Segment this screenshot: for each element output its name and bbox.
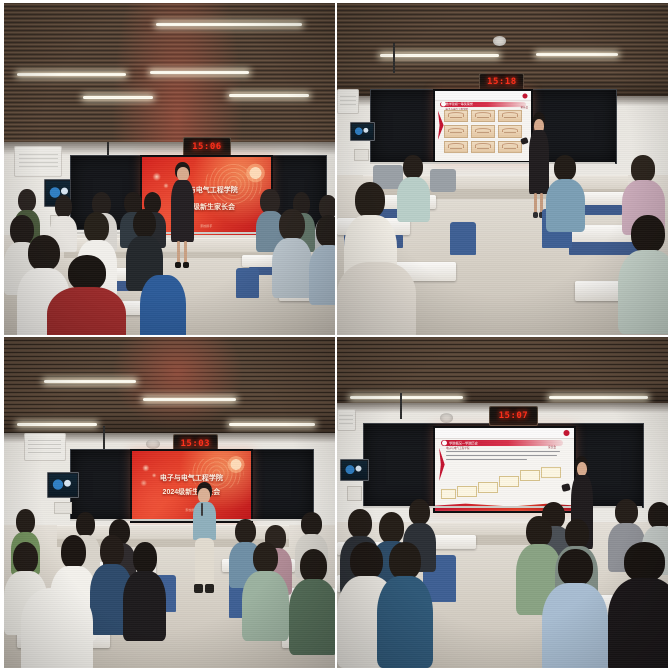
audience-head <box>648 502 668 528</box>
air-conditioner <box>14 146 62 178</box>
audience-body <box>140 275 186 335</box>
audience-member <box>242 542 288 641</box>
audience-body <box>47 287 126 335</box>
collage-panel-top-left: 15:06 电子与电气工程学院 2024级新生家长会 家校携手 <box>4 3 335 335</box>
audience-member <box>47 255 126 335</box>
ceiling-light-tube <box>17 73 126 76</box>
slide-header-bar <box>435 428 574 439</box>
audience-member <box>397 155 430 221</box>
audience-head <box>526 516 552 548</box>
presenter-shoe <box>205 584 214 593</box>
air-conditioner <box>24 433 66 462</box>
audience-member <box>618 215 668 334</box>
certificate-thumbnail <box>498 141 522 153</box>
audience-head <box>631 215 664 253</box>
ceiling-speaker <box>493 36 506 46</box>
slide-header-bar <box>435 91 531 101</box>
institution-logo-icon <box>439 448 445 481</box>
audience-head <box>253 542 279 574</box>
presenter-shoe <box>175 262 181 268</box>
slide-banner: 学院概况—学院历史 <box>441 440 563 447</box>
audience-body <box>123 571 166 642</box>
audience-body <box>21 588 94 668</box>
projector-mount <box>400 393 402 420</box>
certificate-grid <box>444 110 523 153</box>
audience-head <box>348 509 372 538</box>
presenter-head <box>577 462 588 476</box>
slide-banner-text: 数学建模一等奖荣誉 <box>446 102 473 106</box>
led-wall-clock: 15:07 <box>489 406 537 426</box>
air-conditioner <box>337 89 359 114</box>
audience-head <box>615 499 638 525</box>
monitor-screen-image <box>49 474 77 495</box>
certificate-thumbnail <box>471 110 495 122</box>
audience-head <box>235 519 256 544</box>
audience-body <box>618 250 668 335</box>
audience-member <box>123 542 166 641</box>
banner-bullet-icon <box>442 440 447 445</box>
wall-control-monitor[interactable] <box>350 122 375 141</box>
presenter-shoe <box>533 212 539 218</box>
presentation-screen[interactable]: 电子与电气工程学院 家长会 学院概况—学院历史 <box>433 426 576 513</box>
audience-body <box>272 238 312 298</box>
ceiling-light-tube <box>150 71 249 74</box>
audience-head <box>13 542 39 574</box>
university-emblem <box>245 162 266 184</box>
clock-time: 15:18 <box>487 77 517 87</box>
timeline-node <box>541 467 561 478</box>
classroom-chair <box>450 222 476 255</box>
audience-head <box>279 209 304 241</box>
photo-collage: 15:06 电子与电气工程学院 2024级新生家长会 家校携手 <box>0 0 672 672</box>
wall-control-monitor[interactable] <box>340 459 368 481</box>
timeline-node <box>441 489 457 498</box>
projector-mount <box>393 43 395 73</box>
audience-head <box>61 535 87 569</box>
certificate-thumbnail <box>444 125 468 137</box>
audience-head <box>16 509 35 534</box>
wall-switch-plate[interactable] <box>347 486 362 501</box>
audience-member <box>608 542 668 668</box>
audience-member <box>546 155 586 231</box>
audience-head <box>68 255 106 291</box>
university-emblem <box>521 93 529 99</box>
timeline-node <box>499 476 519 487</box>
audience-head <box>76 512 95 537</box>
ceiling-light-tube <box>143 398 236 401</box>
audience-head <box>379 512 405 544</box>
ceiling-light-tube <box>17 423 96 426</box>
audience-body <box>397 177 430 221</box>
audience-member <box>140 275 186 335</box>
classroom-chair <box>430 169 456 192</box>
monitor-screen-image <box>342 461 366 479</box>
audience-head <box>554 155 576 181</box>
certificate-thumbnail <box>471 141 495 153</box>
audience-head <box>55 195 72 218</box>
ceiling-light-tube <box>350 396 463 399</box>
audience-member <box>272 209 312 299</box>
slide-banner: 数学建模一等奖荣誉 <box>440 102 526 108</box>
audience-head <box>558 549 592 587</box>
presenter-body <box>193 502 216 540</box>
presenter-shoe <box>194 584 203 593</box>
audience-member <box>337 262 416 335</box>
audience-body <box>289 579 335 654</box>
ceiling-light-tube <box>536 53 619 56</box>
presenter-leg <box>534 193 537 214</box>
slide-banner-text: 学院概况—学院历史 <box>449 440 478 445</box>
audience-head <box>355 182 385 218</box>
presenter-head <box>198 488 210 503</box>
collage-panel-top-right: 15:18 电子与电气工程学院 家长会 数学建模一等奖荣誉 <box>337 3 668 335</box>
ceiling-speaker <box>440 413 453 423</box>
audience-member <box>377 542 433 668</box>
audience-member <box>542 549 608 668</box>
certificate-thumbnail <box>444 141 468 153</box>
audience-head <box>84 212 109 243</box>
collage-panel-bottom-right: 15:07 电子与电气工程学院 家长会 学院概况—学院历史 <box>337 337 668 669</box>
ceiling-light-tube <box>229 94 308 97</box>
audience-head <box>133 542 157 574</box>
audience-head <box>624 542 665 582</box>
audience-body <box>242 571 288 642</box>
certificate-thumbnail <box>471 125 495 137</box>
clock-time: 15:07 <box>499 411 529 421</box>
projector-mount <box>103 426 105 449</box>
ceiling-light-tube <box>229 423 315 426</box>
audience-head <box>631 155 655 182</box>
audience-member <box>289 549 335 655</box>
presentation-screen[interactable]: 电子与电气工程学院 家长会 数学建模一等奖荣誉 <box>433 89 533 163</box>
wall-switch-plate[interactable] <box>354 149 369 161</box>
monitor-screen-image <box>352 124 373 139</box>
audience-head <box>301 512 322 536</box>
ceiling-light-tube <box>549 396 648 399</box>
audience-head <box>300 549 328 583</box>
audience-head <box>18 189 35 213</box>
air-conditioner <box>337 409 356 431</box>
presenter-shoe <box>183 262 189 268</box>
slide-paragraph-line <box>446 459 527 460</box>
audience-head <box>133 209 156 239</box>
ceiling-light-tube <box>44 380 137 383</box>
ceiling-light-tube <box>380 54 499 57</box>
audience-body <box>377 576 433 668</box>
clock-time: 15:03 <box>181 439 211 449</box>
timeline-node <box>478 482 498 493</box>
timeline-node <box>520 470 540 481</box>
ceiling-light-tube <box>83 96 153 99</box>
slide-header-logo-text: 电子与电气工程学院 <box>446 446 469 450</box>
audience-body <box>337 262 416 335</box>
microphone <box>201 503 203 517</box>
presenter-body <box>171 180 194 242</box>
audience-head <box>316 215 335 247</box>
certificate-thumbnail <box>498 125 522 137</box>
audience-body <box>608 578 668 668</box>
clock-time: 15:06 <box>192 142 222 152</box>
ceiling-light-tube <box>156 23 302 26</box>
presenter-head <box>177 167 189 181</box>
slide-paragraph-line <box>446 451 560 452</box>
audience-member <box>21 588 94 668</box>
audience-body <box>546 179 586 232</box>
presenter-trousers <box>195 538 214 585</box>
presenter <box>166 162 199 268</box>
audience-head <box>389 542 421 580</box>
presenter <box>189 482 219 595</box>
presenter-leg <box>177 241 180 264</box>
wall-control-monitor[interactable] <box>47 472 79 497</box>
presenter-arm <box>520 137 529 145</box>
led-wall-clock: 15:06 <box>183 137 231 157</box>
audience-head <box>100 535 124 567</box>
classroom-chair <box>236 268 259 298</box>
audience-body <box>309 245 335 305</box>
audience-head <box>403 155 423 179</box>
timeline-node <box>457 486 477 497</box>
certificate-thumbnail <box>498 110 522 122</box>
audience-member <box>309 215 335 305</box>
audience-head <box>565 519 589 549</box>
collage-panel-bottom-left: 15:03 电子与电气工程学院 2024级新生家长会 家校携手 <box>4 337 335 669</box>
slide-paragraph-line <box>446 455 557 456</box>
certificate-thumbnail <box>444 110 468 122</box>
audience-body <box>542 583 608 668</box>
ceiling-speaker <box>146 439 159 449</box>
presenter-leg <box>184 241 187 264</box>
